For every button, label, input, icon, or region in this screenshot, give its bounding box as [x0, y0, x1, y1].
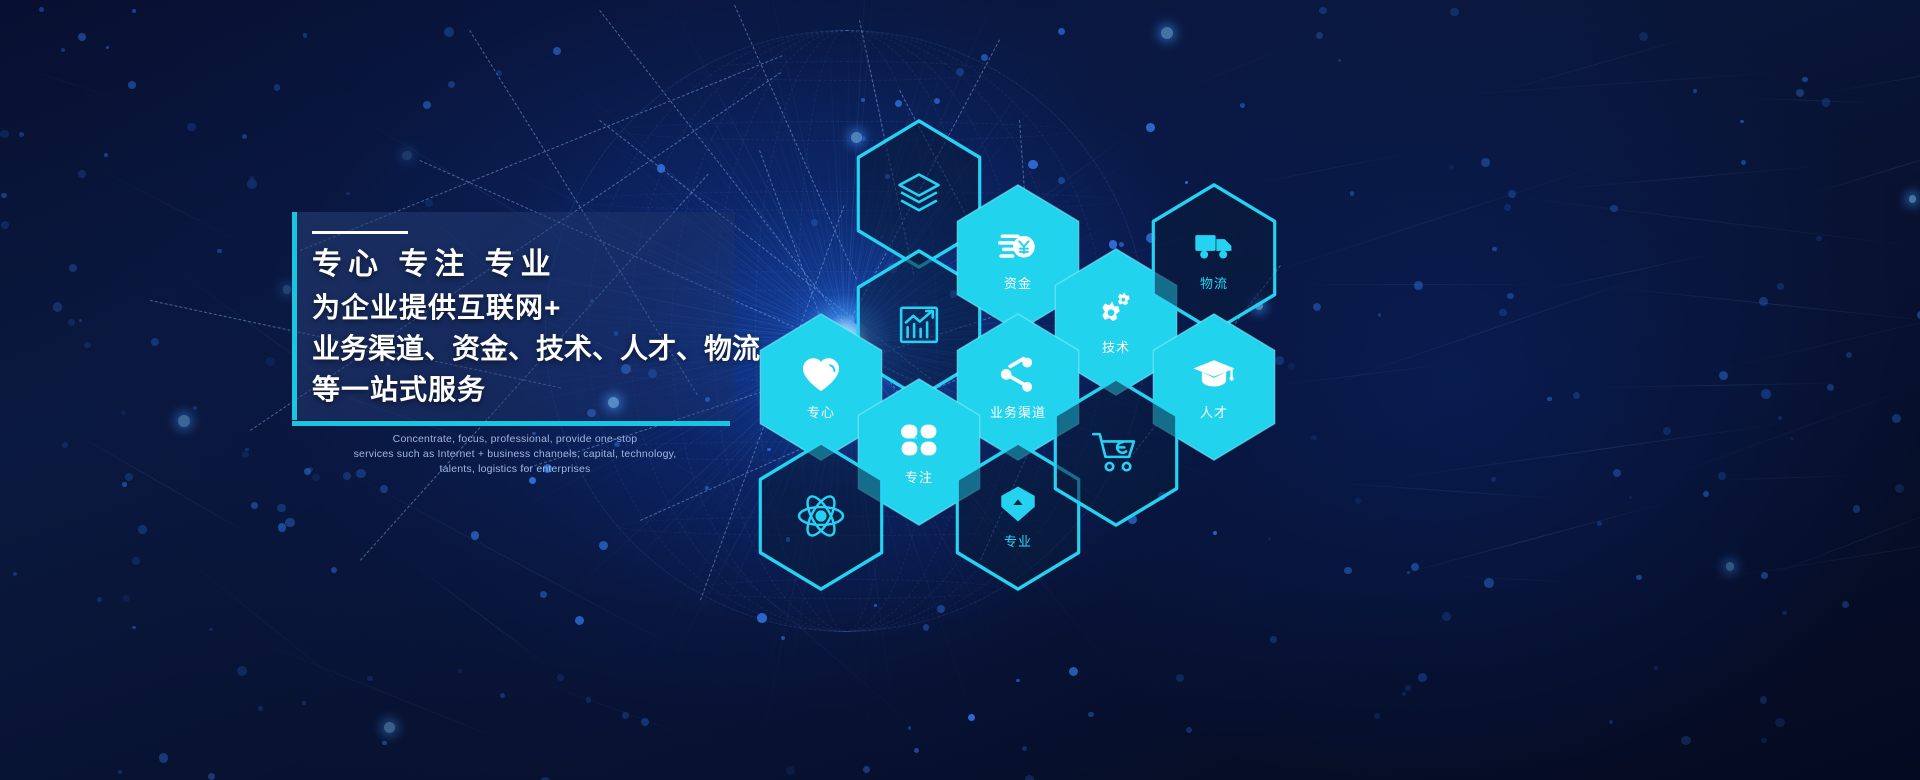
- money-yen-icon: [997, 225, 1039, 267]
- hexagon-cart[interactable]: [1050, 376, 1182, 528]
- banner-stage: 专心 专注 专业 为企业提供互联网+ 业务渠道、资金、技术、人才、物流 等一站式…: [0, 0, 1920, 780]
- hexagon-label: 物流: [1200, 273, 1228, 292]
- heart-icon: [800, 354, 842, 396]
- gears-icon: [1095, 289, 1137, 331]
- hexagon-label: 专心: [807, 402, 835, 421]
- chart-report-icon: [893, 298, 945, 350]
- graduation-cap-icon: [1193, 354, 1235, 396]
- hexagon-label: 技术: [1102, 337, 1130, 356]
- clover-icon: [898, 419, 940, 461]
- layers-icon: [893, 168, 945, 220]
- hexagon-atom[interactable]: [755, 440, 887, 592]
- hexagon-label: 专业: [1004, 531, 1032, 550]
- hexagon-label: 人才: [1200, 402, 1228, 421]
- hexagon-label: 专注: [905, 467, 933, 486]
- hexagon-label: 业务渠道: [990, 402, 1046, 421]
- share-network-icon: [997, 354, 1039, 396]
- truck-icon: [1193, 225, 1235, 267]
- hexagon-label: 资金: [1004, 273, 1032, 292]
- hexagon-cluster: 资金 技术 物流: [0, 0, 1920, 780]
- atom-icon: [795, 490, 847, 542]
- ecart-icon: [1090, 426, 1142, 478]
- gem-diamond-icon: [997, 483, 1039, 525]
